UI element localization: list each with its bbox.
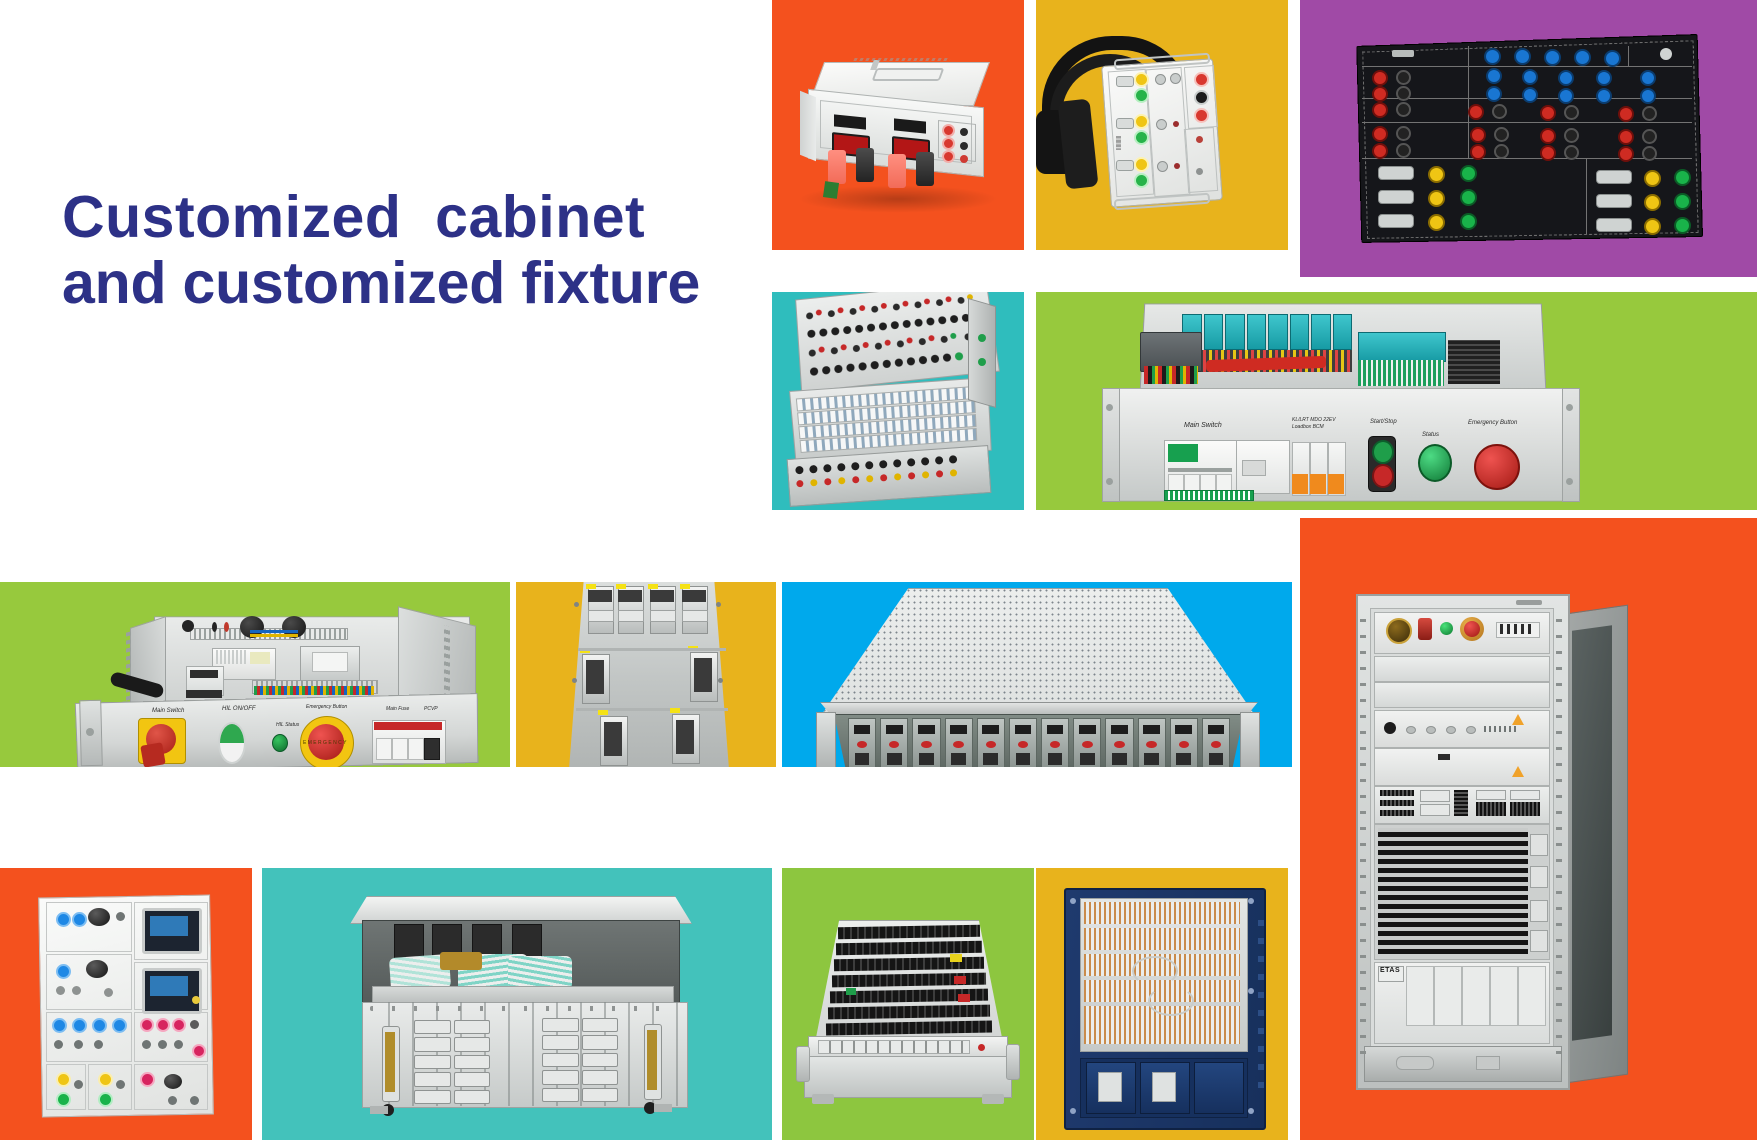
photo-harness-breakout-fixture: ||||||||||| — [1036, 0, 1288, 250]
tile-black-patch-panel-fixture — [1300, 0, 1757, 277]
photo-open-rack-drawer-unit — [772, 292, 1024, 510]
tile-hil-control-chassis: Main Switch HIL ON/OFF HIL Status Emerge… — [0, 582, 510, 767]
photo-rack-control-cabinet-open: Main Switch KL/LRT MDO 22EV Loadbox BCM … — [1036, 292, 1757, 510]
photo-black-patch-panel-fixture — [1300, 0, 1757, 277]
label-pcvp: PCVP — [424, 706, 438, 712]
label-start-stop: Start/Stop — [1370, 419, 1397, 425]
photo-terminal-block-tray — [782, 868, 1034, 1140]
tile-perforated-top-rack-unit — [782, 582, 1292, 767]
label-hil-status: HIL Status — [276, 722, 299, 728]
page-title: Customized cabinet and customized fixtur… — [62, 186, 742, 315]
tile-blue-wiring-cabinet — [1036, 868, 1288, 1140]
page-title-line-2: and customized fixture — [62, 251, 742, 316]
photo-bench-fixture-panel — [0, 868, 252, 1140]
page-title-line-1: Customized cabinet — [62, 186, 742, 249]
photo-bench-top-power-supply-unit — [772, 0, 1024, 250]
label-main-fuse: Main Fuse — [386, 706, 409, 712]
photo-relay-mounting-plate — [516, 582, 776, 767]
photo-full-height-test-cabinet: ETAS — [1300, 518, 1757, 1140]
photo-db9-connector-chassis — [262, 868, 772, 1140]
label-kl-line-2: Loadbox BCM — [1292, 424, 1324, 430]
label-hil-emergency: Emergency Button — [306, 704, 347, 710]
label-etas-brand: ETAS — [1380, 967, 1400, 974]
tile-rack-control-cabinet-open: Main Switch KL/LRT MDO 22EV Loadbox BCM … — [1036, 292, 1757, 510]
photo-blue-wiring-cabinet — [1036, 868, 1288, 1140]
tile-open-rack-drawer-unit — [772, 292, 1024, 510]
label-kl-line-1: KL/LRT MDO 22EV — [1292, 417, 1336, 423]
label-main-switch: Main Switch — [1184, 422, 1222, 429]
tile-bench-top-power-supply-unit — [772, 0, 1024, 250]
tile-db9-connector-chassis — [262, 868, 772, 1140]
tile-harness-breakout-fixture: ||||||||||| — [1036, 0, 1288, 250]
tile-terminal-block-tray — [782, 868, 1034, 1140]
label-status: Status — [1422, 432, 1439, 438]
label-hil-main-switch: Main Switch — [152, 708, 184, 714]
label-hil-on-off: HIL ON/OFF — [222, 706, 256, 712]
tile-bench-fixture-panel — [0, 868, 252, 1140]
photo-perforated-top-rack-unit — [782, 582, 1292, 767]
label-emergency-ring: EMERGENCY — [303, 740, 348, 746]
status-lamp — [1418, 444, 1452, 482]
tile-relay-mounting-plate — [516, 582, 776, 767]
poster-root: Customized cabinet and customized fixtur… — [0, 0, 1757, 1140]
photo-hil-control-chassis: Main Switch HIL ON/OFF HIL Status Emerge… — [0, 582, 510, 767]
tile-full-height-test-cabinet: ETAS — [1300, 518, 1757, 1140]
emergency-stop-button — [1474, 444, 1520, 490]
label-emergency-button: Emergency Button — [1468, 420, 1517, 426]
